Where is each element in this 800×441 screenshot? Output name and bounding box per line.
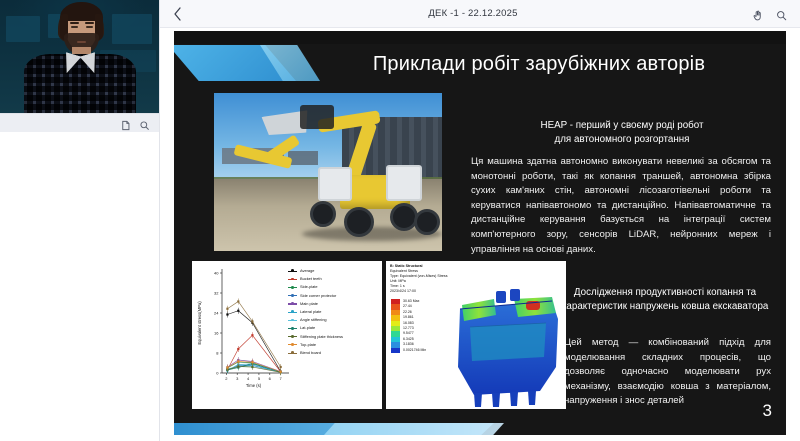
svg-text:32: 32 (214, 291, 219, 296)
zoom-icon[interactable] (139, 118, 150, 129)
legend-item: Stiffening plate thickness (288, 333, 343, 341)
legend-marker-icon (288, 276, 297, 282)
legend-label: Side corner protector (300, 292, 336, 300)
svg-text:7: 7 (280, 376, 283, 381)
legend-item: Top-plate (288, 341, 343, 349)
presentation-title: ДЕК -1 - 22.12.2025 (194, 8, 752, 19)
legend-marker-icon (288, 284, 297, 290)
chart-legend: AverageBucket teethSide-plateSide corner… (288, 267, 343, 357)
legend-marker-icon (288, 342, 297, 348)
search-icon[interactable] (776, 8, 787, 19)
legend-item: Lateral plate (288, 308, 343, 316)
svg-text:16: 16 (214, 331, 219, 336)
back-button[interactable] (160, 0, 194, 28)
svg-text:24: 24 (214, 311, 219, 316)
presentation-viewer-window: ДЕК -1 - 22.12.2025 Приклади робіт зар (0, 0, 800, 441)
slide-heading-2: Дослідження продуктивності копання та ха… (559, 286, 771, 314)
slide-viewport[interactable]: Приклади робіт зарубіжних авторів (160, 28, 800, 441)
svg-text:40: 40 (214, 271, 219, 276)
slide-paragraph-2: Цей метод — комбінований підхід для моде… (564, 336, 771, 409)
legend-label: Average (300, 267, 314, 275)
legend-marker-icon (288, 350, 297, 356)
legend-label: Bucket teeth (300, 275, 322, 283)
svg-text:8: 8 (216, 351, 219, 356)
legend-item: Side-plate (288, 283, 343, 291)
pointer-hand-icon[interactable] (752, 8, 763, 19)
legend-marker-icon (288, 317, 297, 323)
legend-marker-icon (288, 293, 297, 299)
legend-item: Bucket teeth (288, 275, 343, 283)
slide-canvas: Приклади робіт зарубіжних авторів (174, 31, 786, 435)
fea-color-scale: 30.63 Max27.4422.2619.86116.08312.7739.5… (391, 299, 451, 353)
legend-item: Average (288, 267, 343, 275)
legend-label: Lat-plate (300, 324, 315, 332)
stress-line-chart: 0816243240234567Time (s)Equivalent stres… (192, 261, 382, 409)
decor-chevron-bottom (324, 423, 504, 435)
chart-plot-area: 0816243240234567Time (s)Equivalent stres… (192, 261, 382, 409)
svg-text:Time (s): Time (s) (246, 383, 262, 388)
chevron-left-icon (173, 7, 182, 21)
slide-number: 3 (763, 402, 772, 419)
svg-text:0: 0 (216, 371, 219, 376)
legend-item: Lat-plate (288, 324, 343, 332)
presenter-panel-empty (0, 132, 159, 441)
svg-text:5: 5 (258, 376, 261, 381)
svg-text:6: 6 (269, 376, 272, 381)
slide-paragraph-1: Ця машина здатна автономно виконувати не… (471, 155, 771, 257)
bucket-mesh-icon (448, 271, 566, 407)
legend-marker-icon (288, 309, 297, 315)
presenter-video[interactable] (0, 0, 159, 113)
snapshot-icon[interactable] (120, 118, 131, 129)
bucket-fea-figure: B: Static StructuralEquivalent StressTyp… (386, 261, 566, 409)
legend-label: Angle stiffening (300, 316, 327, 324)
legend-label: Lateral plate (300, 308, 321, 316)
legend-label: Top-plate (300, 341, 316, 349)
legend-label: Main plate (300, 300, 318, 308)
fea-scale-swatch (391, 348, 400, 353)
svg-text:2: 2 (225, 376, 228, 381)
legend-marker-icon (288, 301, 297, 307)
legend-item: Main plate (288, 300, 343, 308)
presenter-panel (0, 0, 160, 441)
presenter-figure (0, 0, 159, 113)
top-bar-actions (752, 8, 800, 19)
excavator-photo (214, 93, 442, 251)
svg-text:4: 4 (247, 376, 250, 381)
legend-marker-icon (288, 334, 297, 340)
legend-item: Angle stiffening (288, 316, 343, 324)
legend-item: Side corner protector (288, 292, 343, 300)
slide-title: Приклади робіт зарубіжних авторів (304, 47, 774, 81)
legend-label: Side-plate (300, 283, 318, 291)
legend-marker-icon (288, 268, 297, 274)
fea-scale-row: 0.0021746 Min (391, 348, 451, 353)
legend-label: Blend board (300, 349, 321, 357)
legend-label: Stiffening plate thickness (300, 333, 343, 341)
legend-marker-icon (288, 325, 297, 331)
svg-text:3: 3 (236, 376, 239, 381)
heap-subtitle: HEAP - перший у своєму роді робот для ав… (474, 119, 770, 147)
top-bar: ДЕК -1 - 22.12.2025 (160, 0, 800, 28)
svg-text:Equivalent stress(MPa): Equivalent stress(MPa) (197, 301, 202, 345)
slide-top-strip (174, 31, 786, 44)
legend-item: Blend board (288, 349, 343, 357)
fea-scale-value: 0.0021746 Min (403, 348, 426, 353)
video-toolbar (0, 113, 159, 132)
